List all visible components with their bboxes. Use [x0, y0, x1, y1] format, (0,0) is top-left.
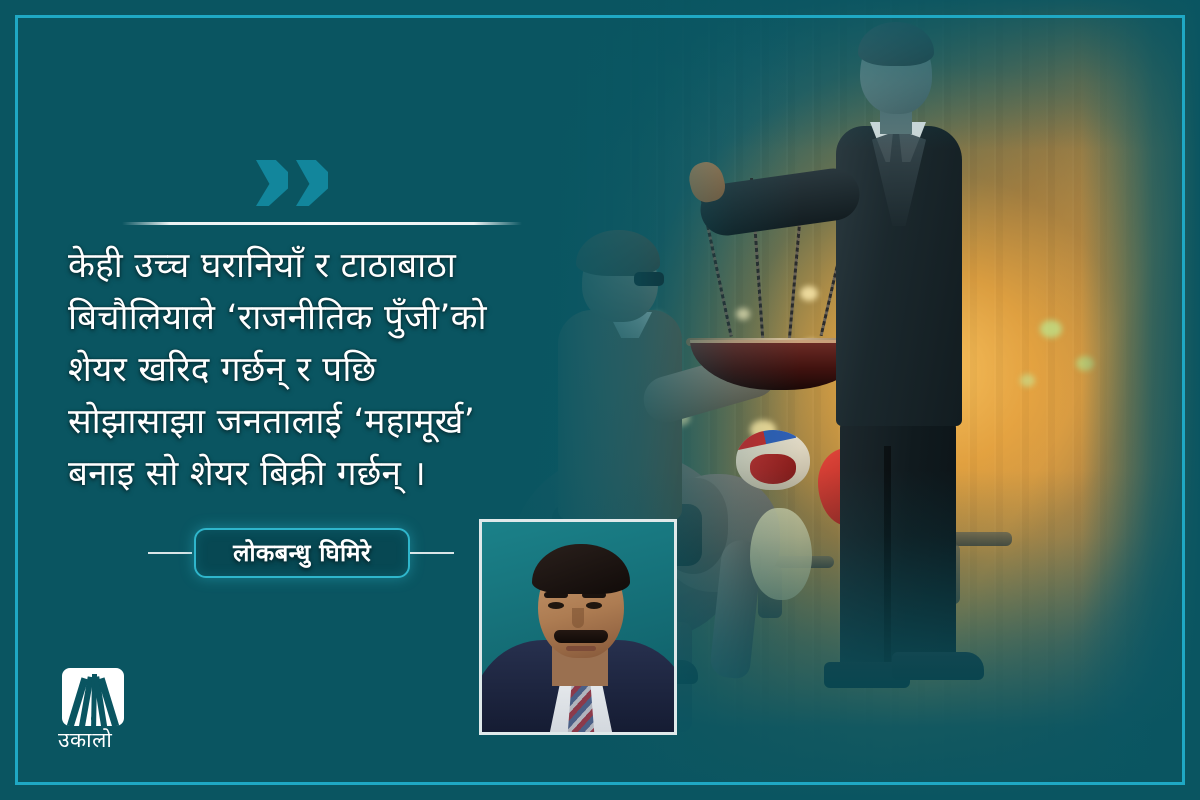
bokeh-light — [1020, 374, 1035, 387]
quote-card: केही उच्च घरानियाँ र टाठाबाठा बिचौलियाले… — [0, 0, 1200, 800]
quote-line: शेयर खरिद गर्छन् र पछि — [68, 344, 568, 396]
quote-divider — [122, 222, 522, 225]
attribution-rule-right — [410, 552, 454, 554]
portrait-mustache — [554, 630, 608, 643]
attribution-rule-left — [148, 552, 192, 554]
portrait-mouth — [566, 646, 596, 651]
author-name: लोकबन्धु घिमिरे — [233, 541, 371, 565]
portrait-nose — [572, 608, 584, 628]
bokeh-light — [1040, 320, 1062, 338]
uphill-trail-mark-icon — [62, 668, 124, 726]
quote-line: सोझासाझा जनतालाई ‘महामूर्ख’ — [68, 396, 568, 448]
quote-line: केही उच्च घरानियाँ र टाठाबाठा — [68, 240, 568, 292]
portrait-eye — [548, 602, 564, 609]
portrait-eye — [586, 602, 602, 609]
quote-text: केही उच्च घरानियाँ र टाठाबाठा बिचौलियाले… — [68, 240, 568, 500]
quote-line: बिचौलियाले ‘राजनीतिक पुँजी’को — [68, 292, 568, 344]
double-quote-icon — [256, 160, 330, 206]
attribution: लोकबन्धु घिमिरे — [140, 528, 460, 578]
ukaalo-logo[interactable]: उकालो — [58, 668, 144, 764]
quote-glyph-right — [296, 160, 328, 206]
quote-line: बनाइ सो शेयर बिक्री गर्छन् । — [68, 448, 568, 500]
illustration-fade-right — [1080, 0, 1200, 800]
trail-dot — [91, 715, 96, 722]
attribution-badge: लोकबन्धु घिमिरे — [194, 528, 410, 578]
quote-glyph-left — [256, 160, 288, 206]
author-portrait — [479, 519, 677, 735]
ukaalo-wordmark: उकालो — [58, 730, 144, 751]
